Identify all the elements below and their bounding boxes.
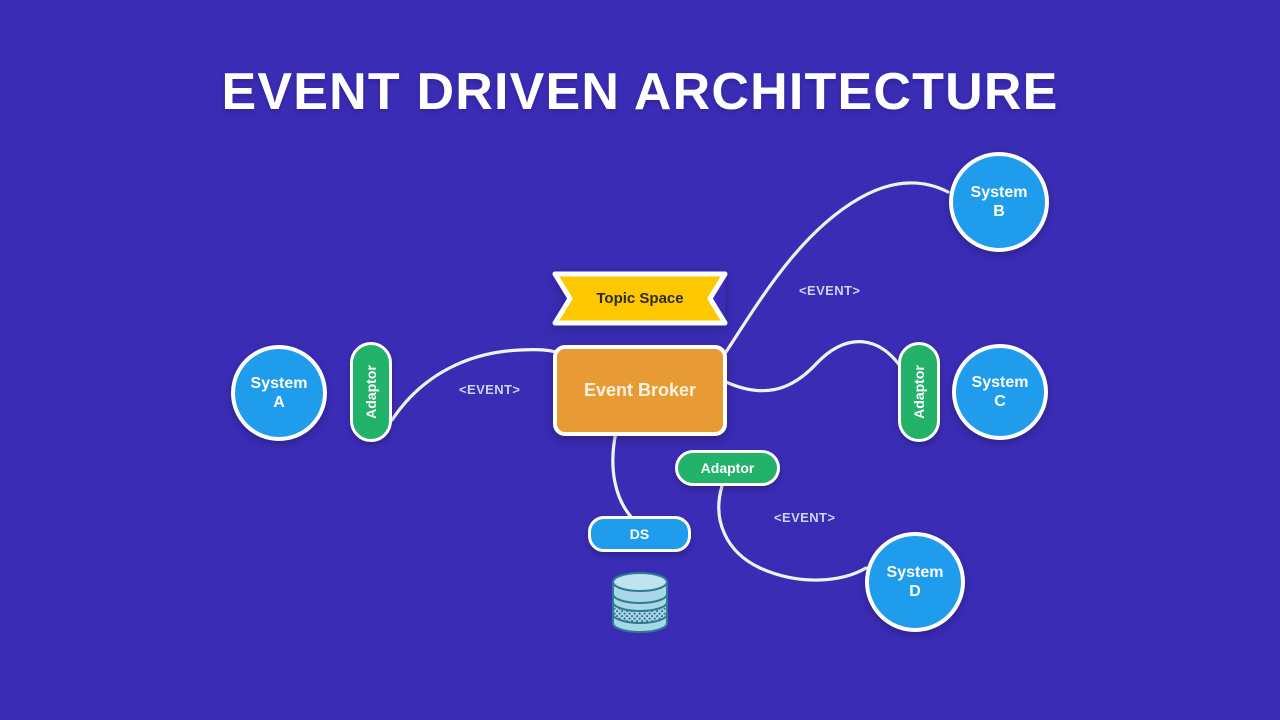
event-label-top-right: <EVENT> — [799, 283, 860, 298]
event-broker-node[interactable]: Event Broker — [553, 345, 727, 436]
edge-broker-to-system-b — [726, 183, 948, 352]
system-c-label-line2: C — [994, 393, 1006, 410]
system-b-node[interactable]: System B — [949, 152, 1049, 252]
system-c-label: System C — [972, 373, 1029, 411]
system-d-label-line1: System — [887, 564, 944, 581]
event-broker-label: Event Broker — [584, 380, 696, 401]
page-title: EVENT DRIVEN ARCHITECTURE — [0, 62, 1280, 122]
event-label-left: <EVENT> — [459, 382, 520, 397]
adaptor-right-node[interactable]: Adaptor — [898, 342, 940, 442]
adaptor-bottom-node[interactable]: Adaptor — [675, 450, 780, 486]
system-b-label: System B — [971, 183, 1028, 221]
adaptor-bottom-label: Adaptor — [701, 460, 755, 476]
edge-adaptor-bottom-to-system-d — [719, 486, 866, 580]
adaptor-left-node[interactable]: Adaptor — [350, 342, 392, 442]
edge-broker-to-adaptor-right — [726, 342, 912, 391]
system-a-label-line1: System — [251, 375, 308, 392]
diagram-canvas: EVENT DRIVEN ARCHITECTURE — [0, 0, 1280, 720]
system-d-label: System D — [887, 563, 944, 601]
system-b-label-line1: System — [971, 184, 1028, 201]
system-d-node[interactable]: System D — [865, 532, 965, 632]
ds-label: DS — [630, 526, 649, 542]
system-a-node[interactable]: System A — [231, 345, 327, 441]
adaptor-left-label: Adaptor — [363, 365, 379, 419]
event-label-bottom-right: <EVENT> — [774, 510, 835, 525]
adaptor-right-label: Adaptor — [911, 365, 927, 419]
topic-space-node[interactable]: Topic Space — [551, 270, 729, 327]
database-cylinder-icon — [608, 572, 672, 634]
system-b-label-line2: B — [993, 203, 1005, 220]
system-a-label-line2: A — [273, 394, 285, 411]
system-c-label-line1: System — [972, 374, 1029, 391]
ds-node[interactable]: DS — [588, 516, 691, 552]
edge-broker-to-ds — [613, 432, 632, 518]
system-c-node[interactable]: System C — [952, 344, 1048, 440]
system-d-label-line2: D — [909, 583, 921, 600]
system-a-label: System A — [251, 374, 308, 412]
